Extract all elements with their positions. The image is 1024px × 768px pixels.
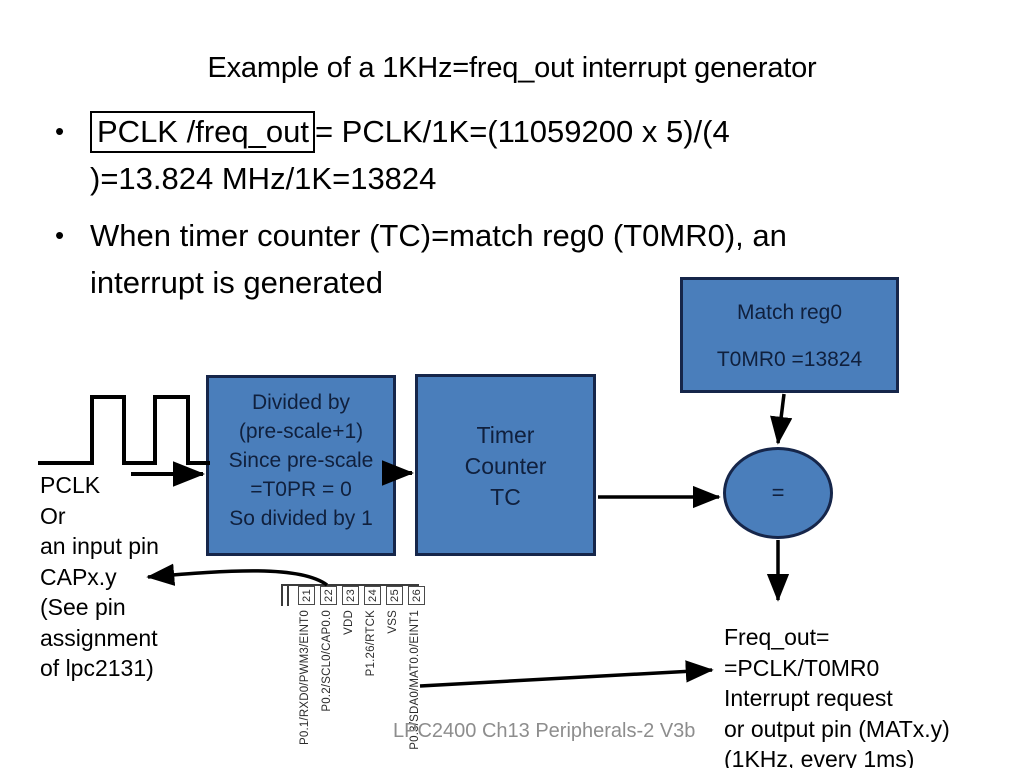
comparator-ellipse: = (723, 447, 833, 539)
timer-counter-box: Timer Counter TC (415, 374, 596, 556)
right-caption-line-3: Interrupt request (724, 683, 950, 714)
pin-label-23: VDD (343, 610, 355, 635)
timer-box-line-2: Counter (418, 451, 593, 482)
clock-source-caption: PCLK Or an input pin CAPx.y (See pin ass… (40, 470, 159, 684)
page-title: Example of a 1KHz=freq_out interrupt gen… (0, 52, 1024, 85)
pin-number-25: 25 (386, 586, 403, 605)
slide-canvas: Example of a 1KHz=freq_out interrupt gen… (0, 0, 1024, 768)
left-caption-line-6: assignment (40, 623, 159, 654)
bullet-marker-2: • (55, 212, 64, 259)
bullet-2-line-1: When timer counter (TC)=match reg0 (T0MR… (90, 212, 990, 259)
pin-number-23: 23 (342, 586, 359, 605)
right-caption-line-1: Freq_out= (724, 622, 950, 653)
pin-number-22: 22 (320, 586, 337, 605)
bullet-item-1: PCLK /freq_out= PCLK/1K=(11059200 x 5)/(… (90, 108, 970, 202)
bullet-marker-1: • (55, 108, 64, 155)
pin-label-24: P1.26/RTCK (365, 610, 377, 676)
bullet-1-line-1: PCLK /freq_out= PCLK/1K=(11059200 x 5)/(… (90, 108, 970, 155)
prescaler-line-5: So divided by 1 (209, 504, 393, 533)
pin-label-25: VSS (387, 610, 399, 634)
left-caption-line-3: an input pin (40, 531, 159, 562)
match-register-box: Match reg0 T0MR0 =13824 (680, 277, 899, 393)
pin-label-21: P0.1/RXD0/PWM3/EINT0 (299, 610, 311, 745)
pin-number-21: 21 (298, 586, 315, 605)
prescaler-line-2: (pre-scale+1) (209, 417, 393, 446)
match-box-line-2: T0MR0 =13824 (683, 345, 896, 374)
arrow-pin26-to-freqout (420, 670, 712, 686)
bullet-1-rest: = PCLK/1K=(11059200 x 5)/(4 (315, 114, 730, 149)
prescaler-line-4: =T0PR = 0 (209, 475, 393, 504)
left-caption-line-2: Or (40, 501, 159, 532)
prescaler-line-1: Divided by (209, 388, 393, 417)
right-caption-line-5: (1KHz, every 1ms) (724, 744, 950, 768)
prescaler-line-3: Since pre-scale (209, 446, 393, 475)
match-box-line-1: Match reg0 (683, 298, 896, 327)
left-caption-line-5: (See pin (40, 592, 159, 623)
left-caption-line-4: CAPx.y (40, 562, 159, 593)
timer-box-line-3: TC (418, 482, 593, 513)
arrow-match-to-comparator (778, 394, 784, 443)
right-caption-line-2: =PCLK/T0MR0 (724, 653, 950, 684)
boxed-term-pclk-freqout: PCLK /freq_out (90, 111, 315, 153)
pclk-waveform (38, 397, 210, 463)
prescaler-box: Divided by (pre-scale+1) Since pre-scale… (206, 375, 396, 556)
left-caption-line-7: of lpc2131) (40, 653, 159, 684)
right-caption-line-4: or output pin (MATx.y) (724, 714, 950, 745)
comparator-label: = (772, 480, 785, 506)
arrow-pin22-to-capxy (148, 571, 327, 585)
freq-out-caption: Freq_out= =PCLK/T0MR0 Interrupt request … (724, 622, 950, 768)
pin-number-26: 26 (408, 586, 425, 605)
bullet-1-line-2: )=13.824 MHz/1K=13824 (90, 155, 970, 202)
pin-number-24: 24 (364, 586, 381, 605)
pin-label-22: P0.2/SCL0/CAP0.0 (321, 610, 333, 712)
pin-rail (281, 584, 289, 606)
slide-footer: LPC2400 Ch13 Peripherals-2 V3b (393, 720, 695, 743)
timer-box-line-1: Timer (418, 420, 593, 451)
left-caption-line-1: PCLK (40, 470, 159, 501)
